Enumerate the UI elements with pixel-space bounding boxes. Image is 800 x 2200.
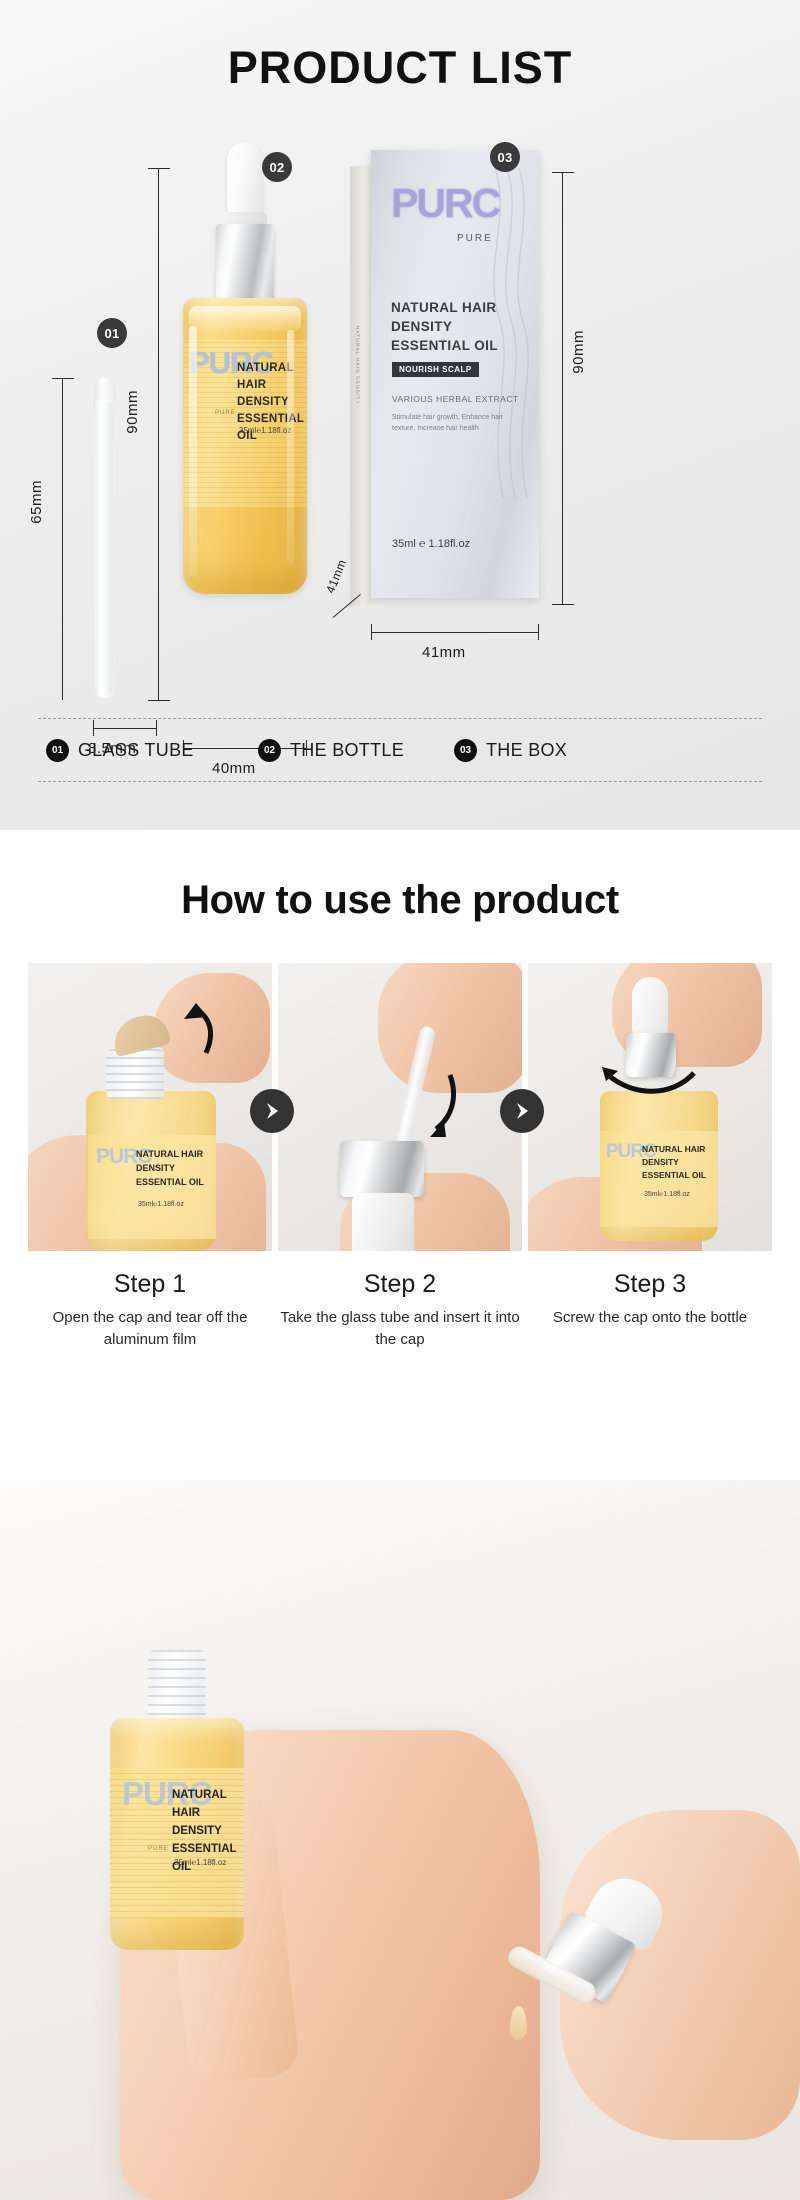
step3-dropper-bulb bbox=[632, 977, 668, 1035]
product-dimension-diagram: 65mm 8.5mm 01 PURC PURE NATURAL HAIR DEN… bbox=[0, 140, 800, 700]
hero-dropper bbox=[500, 1880, 800, 2140]
step-1-caption: Step 1 Open the cap and tear off the alu… bbox=[28, 1270, 272, 1351]
tube-height-rule bbox=[62, 378, 63, 700]
bottle-volume: 35ml℮1.18fl.oz bbox=[239, 426, 291, 435]
hero-oil-droplet bbox=[510, 2006, 527, 2040]
step1-up-arrow-icon bbox=[174, 1001, 218, 1057]
box-width-cap-right bbox=[538, 624, 539, 640]
box-side-panel: NATURAL HAIR DENSITY bbox=[350, 164, 372, 607]
box-claims-text: Stimulate hair growth, Enhance hair text… bbox=[392, 412, 520, 434]
bottle-height-cap-top bbox=[148, 168, 170, 169]
box-brand-logo: PURC bbox=[391, 184, 475, 268]
product-legend: 01 GLASS TUBE 02 THE BOTTLE 03 THE BOX bbox=[38, 718, 762, 782]
step-2-caption: Step 2 Take the glass tube and insert it… bbox=[278, 1270, 522, 1351]
tube-height-label: 65mm bbox=[28, 480, 45, 524]
hero-bottle-neck bbox=[148, 1650, 206, 1724]
glass-tube-highlight bbox=[99, 402, 103, 692]
box-front-panel: PURC PURE NATURAL HAIR DENSITY ESSENTIAL… bbox=[371, 150, 539, 598]
box-height-cap-bottom bbox=[552, 604, 574, 605]
tube-height-cap-top bbox=[52, 378, 74, 379]
hero-brand-sub: PURE bbox=[148, 1846, 169, 1852]
legend-item-box: 03 THE BOX bbox=[454, 739, 567, 762]
step-1-description: Open the cap and tear off the aluminum f… bbox=[28, 1307, 272, 1351]
box-height-cap-top bbox=[552, 172, 574, 173]
bottle-highlight-left bbox=[189, 326, 197, 576]
bottle-product: PURC PURE NATURAL HAIR DENSITY ESSENTIAL… bbox=[175, 140, 315, 700]
box-nourish-badge: NOURISH SCALP bbox=[392, 362, 479, 377]
chevron-right-icon bbox=[512, 1101, 532, 1121]
step1-product-title: NATURAL HAIR DENSITY ESSENTIAL OIL bbox=[136, 1147, 212, 1189]
hero-application-photo: PURC PURE NATURAL HAIR DENSITY ESSENTIAL… bbox=[0, 1480, 800, 2200]
how-to-use-title: How to use the product bbox=[0, 878, 800, 923]
how-to-use-section: How to use the product PURC NATURAL HAIR… bbox=[0, 830, 800, 1480]
how-to-use-captions: Step 1 Open the cap and tear off the alu… bbox=[28, 1270, 772, 1351]
step3-product-title: NATURAL HAIR DENSITY ESSENTIAL OIL bbox=[642, 1143, 712, 1182]
product-list-section: PRODUCT LIST 65mm 8.5mm 01 PURC PURE N bbox=[0, 0, 800, 830]
box-height-label: 90mm bbox=[570, 330, 587, 374]
hero-bottle: PURC PURE NATURAL HAIR DENSITY ESSENTIAL… bbox=[110, 1650, 244, 1950]
bottle-height-label: 90mm bbox=[124, 390, 141, 434]
step-2-heading: Step 2 bbox=[278, 1270, 522, 1299]
box-product: NATURAL HAIR DENSITY PURC PURE NATURAL H… bbox=[350, 144, 540, 614]
chevron-right-icon bbox=[262, 1101, 282, 1121]
how-to-use-photos: PURC NATURAL HAIR DENSITY ESSENTIAL OIL … bbox=[28, 963, 772, 1251]
bottle-brand-sub: PURE bbox=[215, 410, 236, 416]
bottle-metal-cap bbox=[216, 224, 274, 302]
step1-neck-threads bbox=[106, 1049, 164, 1099]
box-depth-label: 41mm bbox=[323, 557, 349, 595]
glass-tube-product bbox=[92, 378, 118, 698]
step3-rotate-arrow-icon bbox=[594, 1057, 704, 1103]
hero-volume: 35ml℮1.18fl.oz bbox=[174, 1858, 226, 1867]
dropper-bulb bbox=[227, 142, 263, 216]
badge-01-glass-tube: 01 bbox=[97, 318, 127, 348]
box-product-title: NATURAL HAIR DENSITY ESSENTIAL OIL bbox=[391, 298, 521, 355]
step-3-caption: Step 3 Screw the cap onto the bottle bbox=[528, 1270, 772, 1351]
legend-label-glass-tube: GLASS TUBE bbox=[78, 740, 194, 761]
box-width-rule bbox=[371, 632, 539, 633]
step-1-photo: PURC NATURAL HAIR DENSITY ESSENTIAL OIL … bbox=[28, 963, 272, 1251]
badge-02-bottle: 02 bbox=[262, 152, 292, 182]
legend-badge-03: 03 bbox=[454, 739, 477, 762]
box-width-cap-left bbox=[371, 624, 372, 640]
box-brand-sub: PURE bbox=[457, 233, 493, 244]
step-separator-1 bbox=[250, 1089, 294, 1133]
step2-down-arrow-icon bbox=[414, 1071, 460, 1141]
step-separator-2 bbox=[500, 1089, 544, 1133]
box-height-rule bbox=[562, 172, 563, 604]
step-3-heading: Step 3 bbox=[528, 1270, 772, 1299]
step-3-description: Screw the cap onto the bottle bbox=[528, 1307, 772, 1329]
bottle-height-cap-bottom bbox=[148, 700, 170, 701]
box-subtitle: VARIOUS HERBAL EXTRACT bbox=[392, 394, 519, 404]
legend-label-bottle: THE BOTTLE bbox=[290, 740, 404, 761]
step-3-photo: PURC NATURAL HAIR DENSITY ESSENTIAL OIL … bbox=[528, 963, 772, 1251]
glass-tube-body bbox=[95, 400, 115, 698]
step-2-photo bbox=[278, 963, 522, 1251]
legend-item-glass-tube: 01 GLASS TUBE bbox=[46, 739, 258, 762]
step2-white-cap-base bbox=[352, 1193, 414, 1251]
page-title: PRODUCT LIST bbox=[0, 42, 800, 94]
badge-03-box: 03 bbox=[490, 142, 520, 172]
bottle-shoulder-highlight bbox=[189, 306, 301, 332]
legend-label-box: THE BOX bbox=[486, 740, 567, 761]
bottle-highlight-right bbox=[287, 330, 294, 565]
legend-item-bottle: 02 THE BOTTLE bbox=[258, 739, 454, 762]
box-width-label: 41mm bbox=[422, 644, 466, 661]
step-2-description: Take the glass tube and insert it into t… bbox=[278, 1307, 522, 1351]
legend-badge-01: 01 bbox=[46, 739, 69, 762]
box-volume: 35ml ℮ 1.18fl.oz bbox=[392, 538, 470, 550]
box-spine-text: NATURAL HAIR DENSITY bbox=[354, 325, 360, 406]
legend-badge-02: 02 bbox=[258, 739, 281, 762]
step-1-heading: Step 1 bbox=[28, 1270, 272, 1299]
step2-metal-cap bbox=[340, 1141, 424, 1197]
step3-volume: 35ml℮1.18fl.oz bbox=[644, 1191, 690, 1198]
bottle-height-rule bbox=[158, 168, 159, 700]
step1-volume: 35ml℮1.18fl.oz bbox=[138, 1201, 184, 1208]
